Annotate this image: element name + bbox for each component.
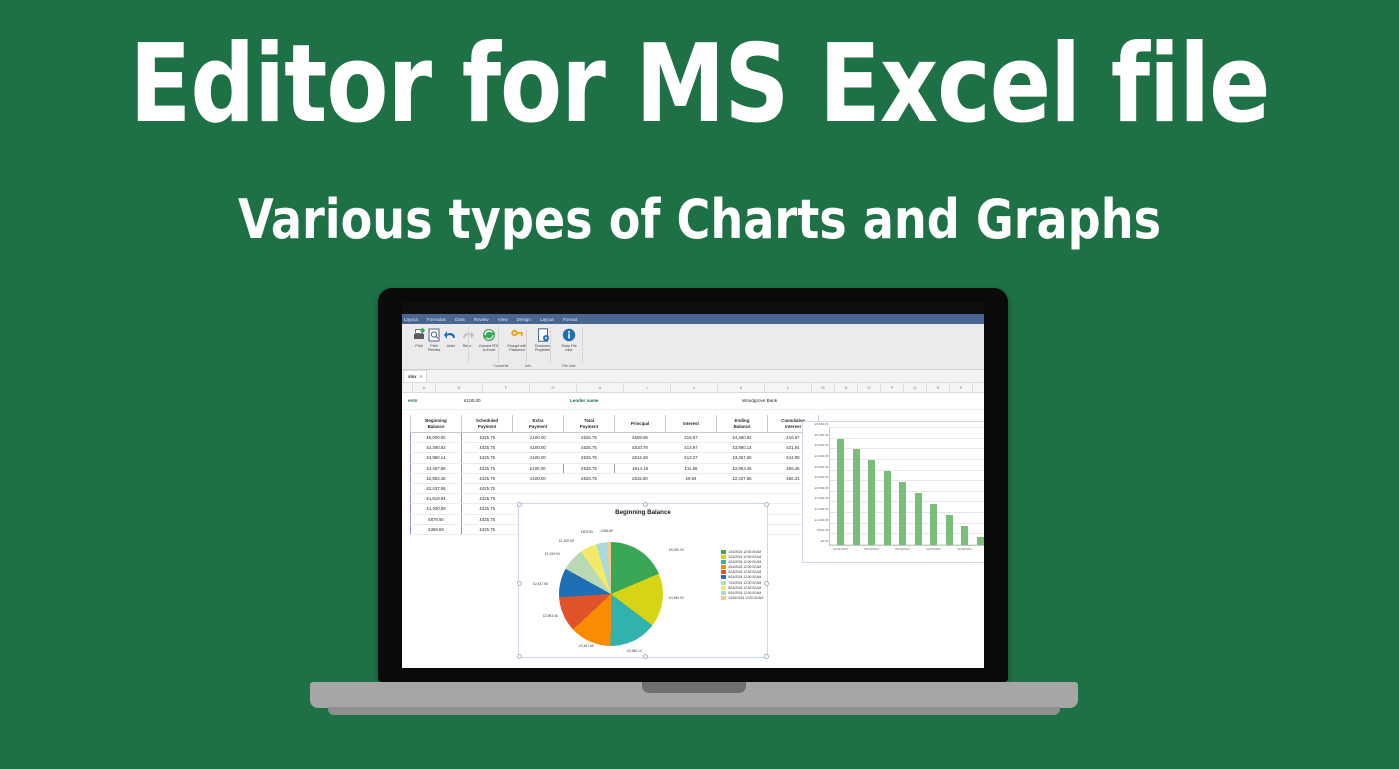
x-axis-tick: 01/07/2024: [926, 547, 940, 551]
ribbon-group-label-1: Info: [502, 364, 554, 368]
table-cell[interactable]: £515.90: [615, 473, 666, 483]
table-cell[interactable]: £425.75: [462, 524, 513, 534]
ribbon-group-separator: [526, 327, 527, 363]
pie-data-label: £879.50: [581, 530, 593, 534]
resize-handle-s[interactable]: [643, 654, 648, 659]
x-axis-tick: 01/03/2024: [864, 547, 878, 551]
y-axis-tick: £5,000.00: [815, 433, 829, 437]
column-header-G[interactable]: G: [530, 383, 577, 392]
pie-data-label: £356.69: [601, 529, 613, 533]
ribbon-tab-7[interactable]: Format: [563, 317, 578, 322]
table-cell[interactable]: £16.67: [666, 433, 717, 443]
spreadsheet-grid[interactable]: ents £100.00 Lender name Woodgrove Bank …: [402, 393, 984, 668]
ribbon-tab-6[interactable]: Layout: [540, 317, 554, 322]
column-header-E[interactable]: E: [436, 383, 483, 392]
y-axis-tick: £5,500.00: [815, 422, 829, 426]
y-axis-tick: £4,500.00: [815, 443, 829, 447]
column-header-N[interactable]: N: [835, 383, 858, 392]
y-axis-tick: £4,000.00: [815, 454, 829, 458]
table-row[interactable]: £2,953.46£425.75£100.00£525.75£515.90£9.…: [411, 473, 819, 483]
table-cell[interactable]: £356.69: [411, 524, 462, 534]
bar-chart-plot-area: £0.00£500.00£1,000.00£1,500.00£2,000.00£…: [829, 428, 984, 546]
table-header-row: Beginning BalanceScheduled PaymentExtra …: [411, 415, 819, 433]
ribbon-tab-4[interactable]: View: [498, 317, 508, 322]
payments-label: ents: [408, 398, 417, 403]
table-cell[interactable]: £3,980.14: [411, 453, 462, 463]
ribbon-button-label: Show File Infor: [561, 344, 576, 353]
table-cell[interactable]: £525.75: [564, 473, 615, 483]
resize-handle-se[interactable]: [764, 654, 769, 659]
pie-chart-legend[interactable]: 1/16/2024 12:00:00 AM2/16/2024 12:00:00 …: [721, 550, 763, 601]
bar[interactable]: [884, 471, 891, 545]
legend-item[interactable]: 3/16/2024 12:00:00 AM: [721, 560, 763, 564]
legend-item[interactable]: 7/16/2024 12:00:00 AM: [721, 581, 763, 585]
legend-label: 7/16/2024 12:00:00 AM: [728, 581, 761, 585]
table-cell[interactable]: £2,437.56: [411, 483, 462, 493]
bar[interactable]: [977, 537, 984, 545]
y-axis-tick: £2,500.00: [815, 486, 829, 490]
bar[interactable]: [946, 515, 953, 545]
bar[interactable]: [899, 482, 906, 545]
table-cell[interactable]: £509.08: [615, 433, 666, 443]
column-header-I[interactable]: I: [624, 383, 671, 392]
table-cell[interactable]: £425.75: [462, 453, 513, 463]
table-cell[interactable]: £4,490.92: [717, 433, 768, 443]
bar[interactable]: [930, 504, 937, 545]
legend-swatch: [721, 570, 726, 574]
document-properties-icon: [535, 327, 551, 343]
column-header-M[interactable]: M: [812, 383, 835, 392]
summary-row: ents £100.00 Lender name Woodgrove Bank: [402, 393, 984, 410]
gridline: [830, 427, 984, 428]
laptop-lid: LayoutFormulasDataReviewViewDesignLayout…: [378, 288, 1008, 682]
legend-label: 3/16/2024 12:00:00 AM: [728, 560, 761, 564]
table-cell[interactable]: [513, 483, 564, 493]
resize-handle-ne[interactable]: [764, 502, 769, 507]
lender-name-value: Woodgrove Bank: [742, 398, 777, 403]
table-cell[interactable]: £525.75: [564, 443, 615, 453]
legend-swatch: [721, 560, 726, 564]
table-cell[interactable]: £514.19: [615, 463, 666, 473]
table-cell[interactable]: £3,467.65: [717, 453, 768, 463]
table-cell[interactable]: £425.75: [462, 483, 513, 493]
y-axis-tick: £1,000.00: [815, 518, 829, 522]
pie-data-label: £3,467.65: [579, 644, 594, 648]
table-cell[interactable]: £100.00: [513, 463, 564, 473]
pie-data-label: £4,490.92: [669, 596, 684, 600]
legend-swatch: [721, 575, 726, 579]
table-cell[interactable]: £100.00: [513, 473, 564, 483]
app-titlebar: [402, 302, 984, 314]
bar-chart-object[interactable]: £0.00£500.00£1,000.00£1,500.00£2,000.00£…: [802, 421, 984, 563]
document-tab-label: xlsx: [408, 374, 417, 379]
legend-swatch: [721, 550, 726, 554]
legend-swatch: [721, 555, 726, 559]
table-cell[interactable]: £510.78: [615, 443, 666, 453]
pie-data-label: £5,000.00: [669, 548, 684, 552]
page-title: Editor for MS Excel file: [49, 28, 1350, 141]
pie-chart[interactable]: [559, 542, 663, 646]
table-cell[interactable]: £100.00: [513, 433, 564, 443]
table-cell[interactable]: £100.00: [513, 443, 564, 453]
table-cell[interactable]: [717, 483, 768, 493]
resize-handle-n[interactable]: [643, 502, 648, 507]
column-header-O[interactable]: O: [858, 383, 881, 392]
legend-label: 8/16/2024 12:00:00 AM: [728, 586, 761, 590]
table-cell[interactable]: £425.75: [462, 473, 513, 483]
column-header-H[interactable]: H: [577, 383, 624, 392]
column-header-S[interactable]: S: [950, 383, 973, 392]
legend-item[interactable]: 8/16/2024 12:00:00 AM: [721, 586, 763, 590]
extra-payment-value: £100.00: [464, 398, 481, 403]
lender-name-label: Lender name: [570, 398, 599, 403]
column-interest[interactable]: Interest: [666, 415, 717, 433]
legend-item[interactable]: 9/16/2024 12:00:00 AM: [721, 591, 763, 595]
ribbon-button-show-file-infor[interactable]: Show File Infor: [554, 326, 584, 353]
column-beginning-balance[interactable]: Beginning Balance: [411, 415, 462, 433]
laptop-mockup: LayoutFormulasDataReviewViewDesignLayout…: [310, 288, 1078, 728]
table-cell[interactable]: £11.56: [666, 463, 717, 473]
legend-label: 10/16/2024 12:00:00 AM: [728, 596, 763, 600]
column-header-F[interactable]: F: [483, 383, 530, 392]
legend-item[interactable]: 6/16/2024 12:00:00 AM: [721, 575, 763, 579]
legend-swatch: [721, 565, 726, 569]
table-cell[interactable]: £2,437.56: [717, 473, 768, 483]
table-cell[interactable]: £425.75: [462, 514, 513, 524]
ribbon-button-convert-pdf-to-excel[interactable]: Convert PDF to Excel: [474, 326, 504, 353]
ribbon-group-separator: [550, 327, 551, 363]
pie-chart-title: Beginning Balance: [519, 509, 767, 517]
pie-data-label: £3,980.14: [627, 649, 642, 653]
legend-label: 6/16/2024 12:00:00 AM: [728, 575, 761, 579]
legend-item[interactable]: 4/16/2024 12:00:00 AM: [721, 565, 763, 569]
column-total-payment[interactable]: Total Payment: [564, 415, 615, 433]
table-cell[interactable]: £3,980.14: [717, 443, 768, 453]
legend-swatch: [721, 591, 726, 595]
x-axis-tick: 01/01/2024: [833, 547, 847, 551]
table-cell[interactable]: £525.75: [564, 433, 615, 443]
table-cell[interactable]: £2,953.46: [411, 473, 462, 483]
table-row[interactable]: £4,490.92£425.75£100.00£525.75£510.78£14…: [411, 443, 819, 453]
legend-item[interactable]: 5/16/2024 12:00:00 AM: [721, 570, 763, 574]
column-extra-payment[interactable]: Extra Payment: [513, 415, 564, 433]
table-row[interactable]: £5,000.00£425.75£100.00£525.75£509.08£16…: [411, 433, 819, 443]
y-axis-tick: £2,000.00: [815, 496, 829, 500]
ribbon-button-label: Encrypt with Password: [507, 344, 526, 353]
legend-item[interactable]: 10/16/2024 12:00:00 AM: [721, 596, 763, 600]
pie-chart-object[interactable]: Beginning Balance £5,000.00£4,490.92£3,9…: [518, 503, 768, 658]
legend-label: 5/16/2024 12:00:00 AM: [728, 570, 761, 574]
ribbon-tab-bar[interactable]: LayoutFormulasDataReviewViewDesignLayout…: [402, 314, 984, 324]
table-cell[interactable]: [564, 483, 615, 493]
table-cell[interactable]: [666, 483, 717, 493]
table-cell[interactable]: [615, 483, 666, 493]
legend-label: 2/16/2024 12:00:00 AM: [728, 555, 761, 559]
show-file-info-icon: [561, 327, 577, 343]
poster: Editor for MS Excel file Various types o…: [0, 0, 1399, 769]
table-cell[interactable]: £3,467.65: [411, 463, 462, 473]
table-cell[interactable]: £1,919.94: [411, 494, 462, 504]
ribbon-group-separator: [468, 327, 469, 363]
column-header-J[interactable]: J: [671, 383, 718, 392]
bar[interactable]: [837, 439, 844, 545]
ribbon-tab-2[interactable]: Data: [455, 317, 465, 322]
close-icon[interactable]: ×: [420, 374, 423, 379]
redo-icon: [459, 327, 475, 343]
column-header-K[interactable]: K: [718, 383, 765, 392]
laptop-base-notch: [642, 682, 746, 693]
document-tab[interactable]: xlsx ×: [403, 370, 427, 382]
column-ending-balance[interactable]: Ending Balance: [717, 415, 768, 433]
page-subtitle: Various types of Charts and Graphs: [35, 190, 1364, 249]
ribbon[interactable]: PrintPrint PreviewUndoRedoConvert PDF to…: [402, 324, 984, 370]
table-cell[interactable]: £14.97: [666, 443, 717, 453]
column-principal[interactable]: Principal: [615, 415, 666, 433]
legend-swatch: [721, 586, 726, 590]
column-header-R[interactable]: R: [927, 383, 950, 392]
ribbon-tab-5[interactable]: Design: [517, 317, 531, 322]
resize-handle-sw[interactable]: [517, 654, 522, 659]
legend-swatch: [721, 596, 726, 600]
ribbon-group-label-2: File Infor: [554, 364, 584, 368]
table-cell[interactable]: £425.75: [462, 494, 513, 504]
table-cell[interactable]: £525.75: [564, 453, 615, 463]
bar[interactable]: [961, 526, 968, 545]
table-cell[interactable]: £2,953.46: [717, 463, 768, 473]
resize-handle-w[interactable]: [517, 581, 522, 586]
ribbon-tab-0[interactable]: Layout: [404, 317, 418, 322]
document-tab-strip[interactable]: xlsx ×: [402, 370, 984, 383]
ribbon-button-label: Convert PDF to Excel: [479, 344, 499, 353]
table-cell[interactable]: £5,000.00: [411, 433, 462, 443]
y-axis-tick: £0.00: [821, 539, 829, 543]
y-axis-tick: £3,000.00: [815, 475, 829, 479]
bar[interactable]: [915, 493, 922, 545]
column-header-P[interactable]: P: [881, 383, 904, 392]
resize-handle-e[interactable]: [764, 581, 769, 586]
x-axis-tick: 01/05/2024: [895, 547, 909, 551]
table-cell[interactable]: £1,400.59: [411, 504, 462, 514]
table-cell[interactable]: £425.75: [462, 443, 513, 453]
laptop-screen: LayoutFormulasDataReviewViewDesignLayout…: [402, 302, 984, 668]
pie-data-label: £1,400.59: [559, 539, 574, 543]
bar[interactable]: [868, 460, 875, 545]
encrypt-password-icon: [509, 327, 525, 343]
ribbon-group-separator: [498, 327, 499, 363]
y-axis-tick: £3,500.00: [815, 465, 829, 469]
table-cell[interactable]: £879.50: [411, 514, 462, 524]
resize-handle-nw[interactable]: [517, 502, 522, 507]
table-cell[interactable]: £13.27: [666, 453, 717, 463]
column-header-D[interactable]: D: [413, 383, 436, 392]
table-cell[interactable]: £100.00: [513, 453, 564, 463]
table-cell[interactable]: £425.75: [462, 433, 513, 443]
table-row[interactable]: £2,437.56£425.75: [411, 483, 819, 493]
table-row[interactable]: £3,980.14£425.75£100.00£525.75£512.48£13…: [411, 453, 819, 463]
y-axis-tick: £1,500.00: [815, 507, 829, 511]
pie-data-label: £2,953.46: [543, 614, 558, 618]
legend-item[interactable]: 1/16/2024 12:00:00 AM: [721, 550, 763, 554]
laptop-base-shadow: [328, 707, 1060, 715]
table-cell[interactable]: £425.75: [462, 504, 513, 514]
ribbon-button-label: Redo: [463, 344, 471, 348]
table-cell[interactable]: £4,490.92: [411, 443, 462, 453]
table-cell[interactable]: £525.75: [564, 463, 615, 473]
table-row[interactable]: £3,467.65£425.75£100.00£525.75£514.19£11…: [411, 463, 819, 473]
column-header-L[interactable]: L: [765, 383, 812, 392]
pie-data-label: £1,919.94: [545, 552, 560, 556]
table-cell[interactable]: £512.48: [615, 453, 666, 463]
table-cell[interactable]: £9.84: [666, 473, 717, 483]
ribbon-tab-1[interactable]: Formulas: [427, 317, 446, 322]
bar[interactable]: [853, 449, 860, 545]
legend-label: 1/16/2024 12:00:00 AM: [728, 550, 761, 554]
pie-data-label: £2,437.56: [533, 582, 548, 586]
column-header-row[interactable]: DEFGHIJKLMNOPQRS: [402, 383, 984, 393]
table-cell[interactable]: £425.75: [462, 463, 513, 473]
ribbon-group-separator: [582, 327, 583, 363]
legend-label: 9/16/2024 12:00:00 AM: [728, 591, 761, 595]
corner-cell[interactable]: [402, 383, 413, 392]
legend-label: 4/16/2024 12:00:00 AM: [728, 565, 761, 569]
convert-pdf-icon: [481, 327, 497, 343]
y-axis-tick: £500.00: [817, 528, 828, 532]
gridline: [830, 438, 984, 439]
x-axis-tick: 01/09/2024: [957, 547, 971, 551]
ribbon-button-label: Document Properties: [535, 344, 551, 353]
column-scheduled-payment[interactable]: Scheduled Payment: [462, 415, 513, 433]
ribbon-tab-3[interactable]: Review: [474, 317, 489, 322]
legend-item[interactable]: 2/16/2024 12:00:00 AM: [721, 555, 763, 559]
legend-swatch: [721, 581, 726, 585]
column-header-Q[interactable]: Q: [904, 383, 927, 392]
